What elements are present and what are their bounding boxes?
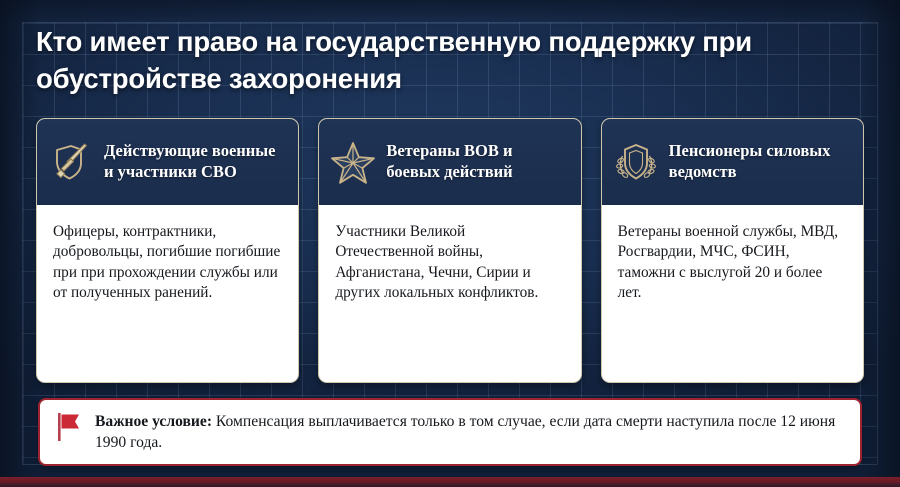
card-title: Пенсионеры силовых ведомств — [669, 141, 852, 182]
note-text: Важное условие: Компенсация выплачиваетс… — [95, 411, 846, 453]
card-header: Пенсионеры силовых ведомств — [602, 119, 863, 205]
bottom-accent-band — [0, 477, 900, 487]
category-card-pensioners: Пенсионеры силовых ведомств Ветераны вое… — [601, 118, 864, 383]
category-cards: Действующие военные и участники СВО Офиц… — [36, 118, 864, 383]
star-icon — [330, 139, 376, 185]
shield-sword-icon — [48, 139, 94, 185]
card-body-text: Офицеры, контрактники, добровольцы, поги… — [37, 205, 298, 382]
shield-laurel-icon — [613, 139, 659, 185]
card-header: Действующие военные и участники СВО — [37, 119, 298, 205]
note-label: Важное условие: — [95, 413, 212, 430]
red-flag-icon — [56, 412, 82, 442]
card-body-text: Ветераны военной службы, МВД, Росгвардии… — [602, 205, 863, 382]
important-condition-note: Важное условие: Компенсация выплачиваетс… — [38, 398, 862, 466]
card-body-text: Участники Великой Отечественной войны, А… — [319, 205, 580, 382]
category-card-veterans: Ветераны ВОВ и боевых действий Участники… — [318, 118, 581, 383]
category-card-military: Действующие военные и участники СВО Офиц… — [36, 118, 299, 383]
page-title: Кто имеет право на государственную подде… — [36, 24, 836, 97]
card-title: Действующие военные и участники СВО — [104, 141, 287, 182]
card-header: Ветераны ВОВ и боевых действий — [319, 119, 580, 205]
card-title: Ветераны ВОВ и боевых действий — [386, 141, 569, 182]
